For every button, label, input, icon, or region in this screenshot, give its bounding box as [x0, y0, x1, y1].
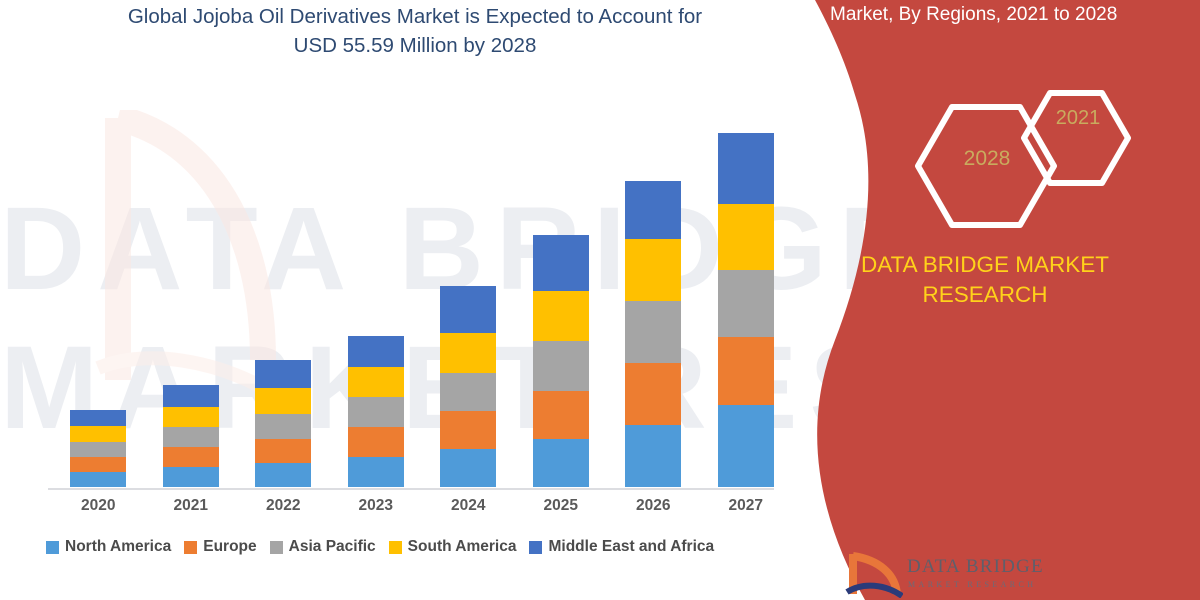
legend-swatch-icon	[184, 541, 197, 554]
x-tick-label-2022: 2022	[248, 497, 318, 515]
infographic-canvas: DATA BRIDGE MARKET RESEARCH Global Jojob…	[0, 0, 1200, 600]
bar-segment-middle-east-and-africa	[625, 181, 681, 239]
bar-segment-middle-east-and-africa	[348, 336, 404, 367]
legend-swatch-icon	[46, 541, 59, 554]
legend-item-north-america[interactable]: North America	[46, 538, 171, 556]
bar-segment-europe	[533, 391, 589, 439]
bar-segment-south-america	[163, 407, 219, 427]
bar-segment-south-america	[70, 426, 126, 442]
hexagon-label-right: 2021	[1018, 107, 1138, 130]
footer-logo-name: DATA BRIDGE	[907, 556, 1044, 578]
bar-segment-asia-pacific	[70, 442, 126, 457]
bar-segment-north-america	[348, 457, 404, 487]
legend-swatch-icon	[270, 541, 283, 554]
panel-heading: Market, By Regions, 2021 to 2028	[830, 4, 1190, 26]
footer-logo: DATA BRIDGE MARKET RESEARCH	[845, 552, 1175, 600]
bar-segment-asia-pacific	[533, 341, 589, 391]
brand-line-1: DATA BRIDGE MARKET	[861, 252, 1109, 277]
x-tick-label-2020: 2020	[63, 497, 133, 515]
bar-segment-middle-east-and-africa	[533, 235, 589, 291]
legend-item-asia-pacific[interactable]: Asia Pacific	[270, 538, 376, 556]
bar-2022	[255, 360, 311, 487]
bar-segment-asia-pacific	[163, 427, 219, 447]
legend-label: South America	[408, 538, 517, 556]
bar-segment-europe	[255, 439, 311, 463]
bridge-logo-icon	[845, 552, 903, 598]
x-tick-label-2023: 2023	[341, 497, 411, 515]
legend-item-south-america[interactable]: South America	[389, 538, 517, 556]
x-tick-label-2026: 2026	[618, 497, 688, 515]
chart-title-line-1: Global Jojoba Oil Derivatives Market is …	[128, 5, 702, 28]
bar-2025	[533, 235, 589, 487]
bar-segment-north-america	[440, 449, 496, 487]
footer-logo-tagline: MARKET RESEARCH	[908, 580, 1036, 589]
bar-segment-asia-pacific	[440, 373, 496, 411]
x-axis-labels: 20202021202220232024202520262027	[48, 497, 788, 523]
legend-label: Middle East and Africa	[548, 538, 714, 556]
bar-segment-south-america	[255, 388, 311, 414]
bar-2020	[70, 410, 126, 487]
bar-segment-asia-pacific	[625, 301, 681, 363]
chart-region: Global Jojoba Oil Derivatives Market is …	[0, 0, 800, 600]
brand-line-2: RESEARCH	[922, 282, 1047, 307]
legend-label: Asia Pacific	[289, 538, 376, 556]
hexagon-label-left: 2028	[922, 147, 1052, 171]
bar-segment-north-america	[163, 467, 219, 487]
bar-segment-europe	[70, 457, 126, 472]
legend-item-europe[interactable]: Europe	[184, 538, 256, 556]
bar-segment-north-america	[255, 463, 311, 487]
bar-segment-north-america	[70, 472, 126, 487]
legend-item-middle-east-and-africa[interactable]: Middle East and Africa	[529, 538, 714, 556]
bar-segment-south-america	[348, 367, 404, 397]
bar-segment-europe	[163, 447, 219, 467]
legend-label: North America	[65, 538, 171, 556]
bar-segment-middle-east-and-africa	[70, 410, 126, 426]
hexagon-group: 2028 2021	[910, 85, 1140, 230]
bar-segment-middle-east-and-africa	[163, 385, 219, 407]
bar-segment-europe	[440, 411, 496, 449]
bar-segment-north-america	[625, 425, 681, 487]
bar-segment-asia-pacific	[348, 397, 404, 427]
bar-2026	[625, 181, 681, 487]
right-red-panel: Market, By Regions, 2021 to 2028 2028 20…	[760, 0, 1200, 600]
bar-segment-south-america	[533, 291, 589, 341]
bar-segment-north-america	[533, 439, 589, 487]
x-tick-label-2025: 2025	[526, 497, 596, 515]
chart-title-line-2: USD 55.59 Million by 2028	[294, 34, 537, 57]
bar-segment-europe	[625, 363, 681, 425]
bar-2023	[348, 336, 404, 487]
chart-title: Global Jojoba Oil Derivatives Market is …	[55, 2, 775, 60]
legend-swatch-icon	[529, 541, 542, 554]
bar-segment-europe	[348, 427, 404, 457]
chart-legend: North AmericaEuropeAsia PacificSouth Ame…	[46, 538, 786, 556]
legend-swatch-icon	[389, 541, 402, 554]
bar-2024	[440, 286, 496, 487]
x-axis-line	[48, 488, 774, 490]
bar-segment-south-america	[625, 239, 681, 301]
bar-segment-south-america	[440, 333, 496, 373]
x-tick-label-2024: 2024	[433, 497, 503, 515]
legend-label: Europe	[203, 538, 256, 556]
bar-segment-middle-east-and-africa	[255, 360, 311, 388]
plot-area	[48, 95, 788, 487]
brand-name: DATA BRIDGE MARKET RESEARCH	[820, 250, 1150, 309]
bar-segment-asia-pacific	[255, 414, 311, 439]
x-tick-label-2021: 2021	[156, 497, 226, 515]
bar-2021	[163, 385, 219, 487]
bar-segment-middle-east-and-africa	[440, 286, 496, 333]
